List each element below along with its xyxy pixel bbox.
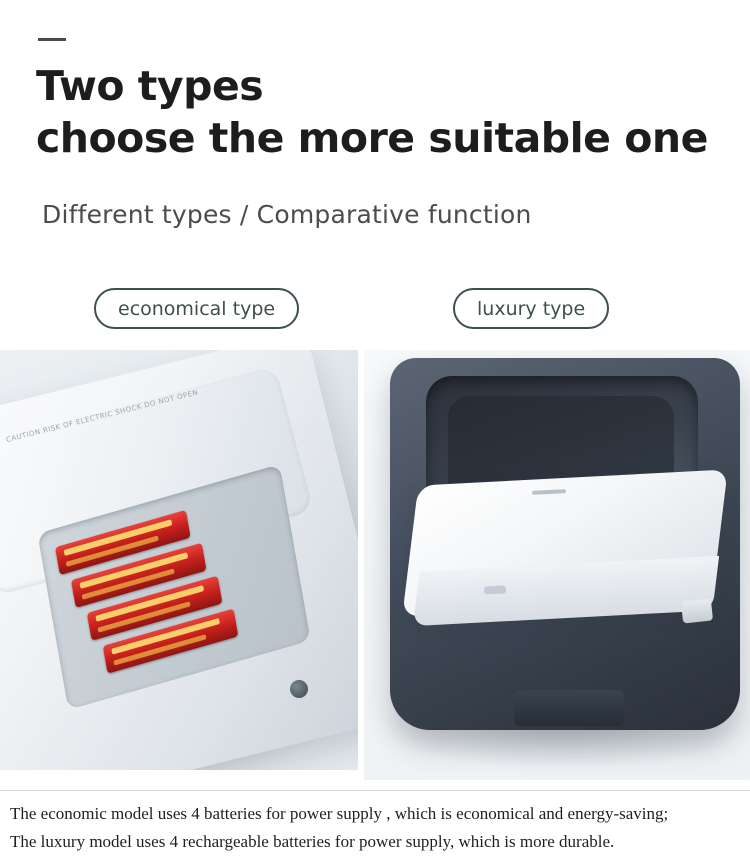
- footer-divider: [0, 790, 750, 791]
- label-economical-type: economical type: [94, 288, 299, 329]
- label-luxury-type-text: luxury type: [477, 298, 585, 320]
- photo-right-bin-foot: [514, 690, 624, 726]
- label-luxury-type: luxury type: [453, 288, 609, 329]
- photo-left-screw-hole: [290, 680, 308, 698]
- photo-right-pack-connector: [681, 598, 713, 623]
- photo-right-pack-button: [484, 585, 506, 594]
- page-title-line-2: choose the more suitable one: [36, 112, 736, 164]
- page-title: Two types choose the more suitable one: [36, 60, 736, 164]
- photo-economical-type: CAUTION RISK OF ELECTRIC SHOCK DO NOT OP…: [0, 350, 358, 770]
- footer-line-1: The economic model uses 4 batteries for …: [10, 800, 745, 828]
- page-title-line-1: Two types: [36, 60, 736, 112]
- label-economical-type-text: economical type: [118, 298, 275, 320]
- top-divider: [38, 38, 66, 41]
- page-subtitle: Different types / Comparative function: [42, 198, 532, 232]
- footer-description: The economic model uses 4 batteries for …: [10, 800, 745, 856]
- footer-line-2: The luxury model uses 4 rechargeable bat…: [10, 828, 745, 856]
- photo-luxury-type: [364, 350, 750, 780]
- page-root: Two types choose the more suitable one D…: [0, 0, 750, 865]
